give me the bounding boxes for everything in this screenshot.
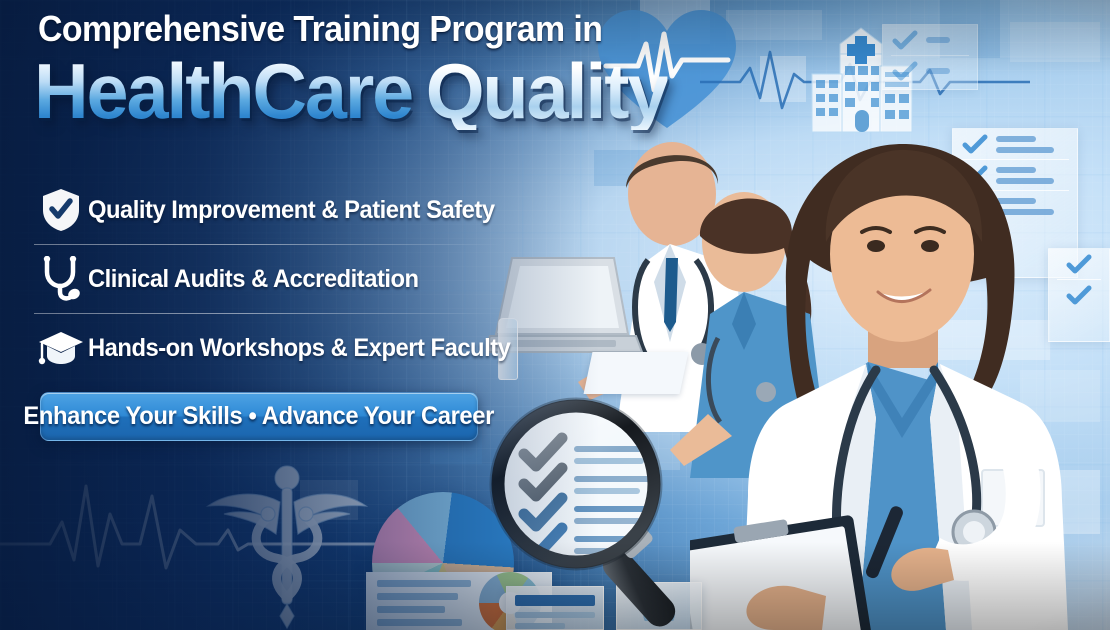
banner-text-content: Comprehensive Training Program in Health… — [0, 0, 620, 630]
feature-label: Quality Improvement & Patient Safety — [88, 196, 495, 225]
title-part-healthcare: HealthCare — [34, 52, 412, 130]
graduation-cap-icon — [34, 328, 88, 368]
shield-check-icon — [34, 188, 88, 232]
title-part-quality: Quality — [426, 52, 668, 130]
feature-list: Quality Improvement & Patient Safety Cli… — [34, 176, 504, 382]
feature-item-clinical-audits: Clinical Audits & Accreditation — [34, 245, 504, 313]
stethoscope-icon — [34, 256, 88, 302]
feature-label: Hands-on Workshops & Expert Faculty — [88, 334, 510, 363]
feature-item-workshops: Hands-on Workshops & Expert Faculty — [34, 314, 504, 382]
cta-button-label: Enhance Your Skills • Advance Your Caree… — [24, 402, 495, 431]
banner-title: HealthCareQuality — [34, 52, 667, 130]
healthcare-quality-banner: Comprehensive Training Program in Health… — [0, 0, 1110, 630]
feature-item-quality-improvement: Quality Improvement & Patient Safety — [34, 176, 504, 244]
female-doctor-figure — [690, 118, 1110, 630]
feature-label: Clinical Audits & Accreditation — [88, 265, 419, 294]
banner-subtitle: Comprehensive Training Program in — [38, 8, 602, 50]
cta-button[interactable]: Enhance Your Skills • Advance Your Caree… — [40, 392, 478, 441]
